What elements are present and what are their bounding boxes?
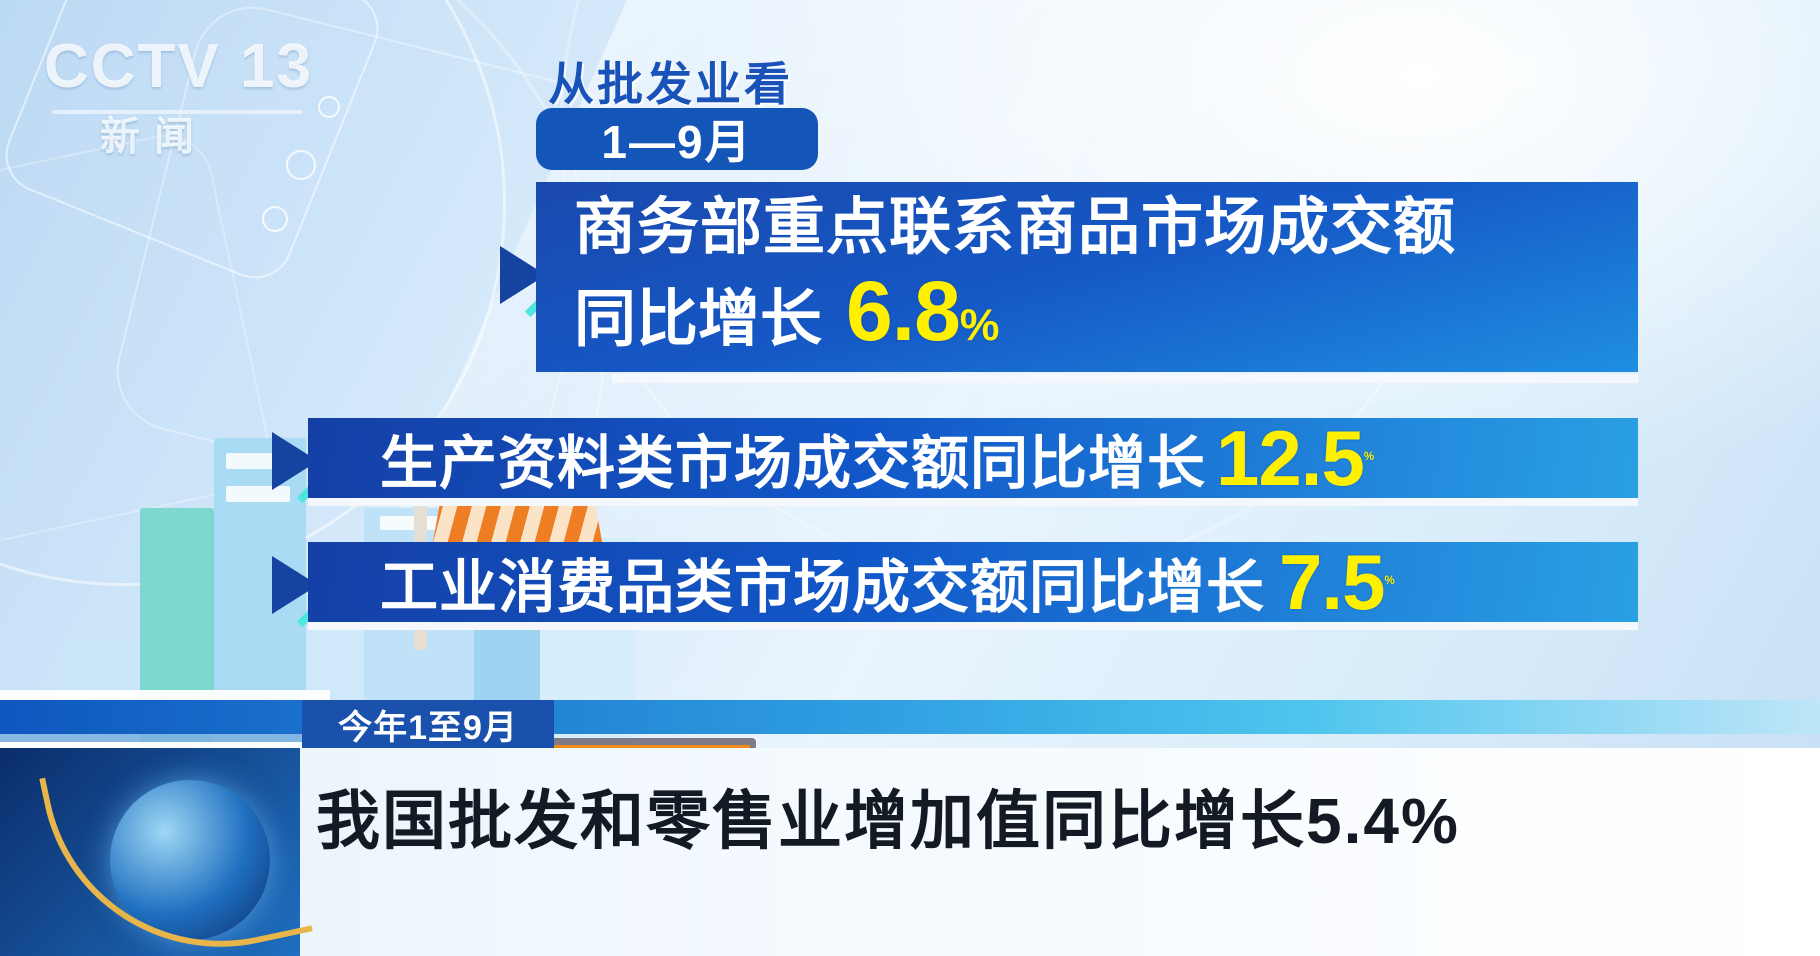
lower-third-title: 我国批发和零售业增加值同比增长5.4% (316, 770, 1460, 862)
panel-1-value: 6.8 (846, 269, 960, 353)
broadcast-screen: CCTV 13 新闻 CCTV 13 从批发业看 1—9月 商务部重点联系商品市… (0, 0, 1820, 956)
lower-third-tag: 今年1至9月 (302, 700, 554, 748)
panel-production-materials: 生产资料类市场成交额同比增长 12.5 % (308, 418, 1638, 498)
kicker-text: 从批发业看 (548, 48, 793, 114)
logo-underline (52, 110, 302, 114)
logo-wordmark: CCTV 13 (44, 36, 324, 98)
panel-2-underline (308, 498, 1638, 506)
panel-1-label: 同比增长 (574, 288, 822, 351)
panel-industrial-consumer: 工业消费品类市场成交额同比增长 7.5 % (308, 542, 1638, 622)
panel-2-label: 生产资料类市场成交额同比增长 (380, 416, 1206, 500)
panel-3-unit: % (1384, 576, 1393, 588)
period-badge: 1—9月 (536, 108, 818, 170)
panel-wholesale-total: 商务部重点联系商品市场成交额 同比增长 6.8 % (536, 182, 1638, 372)
panel-1-line-1: 商务部重点联系商品市场成交额 (574, 196, 1604, 259)
panel-1-line-2: 同比增长 6.8 % (574, 269, 1604, 353)
lower-third-accent-bar (0, 700, 1820, 734)
panel-1-unit: % (960, 304, 999, 349)
panel-3-label: 工业消费品类市场成交额同比增长 (380, 540, 1265, 624)
panel-1-underline (612, 374, 1638, 383)
panel-2-value: 12.5 (1216, 419, 1364, 497)
panel-2-unit: % (1364, 452, 1373, 464)
panel-3-value: 7.5 (1279, 543, 1384, 621)
panel-3-underline (308, 622, 1638, 630)
cctv-13-logo: CCTV 13 新闻 (44, 36, 324, 146)
watermark-logo: CCTV 13 (1330, 46, 1540, 100)
